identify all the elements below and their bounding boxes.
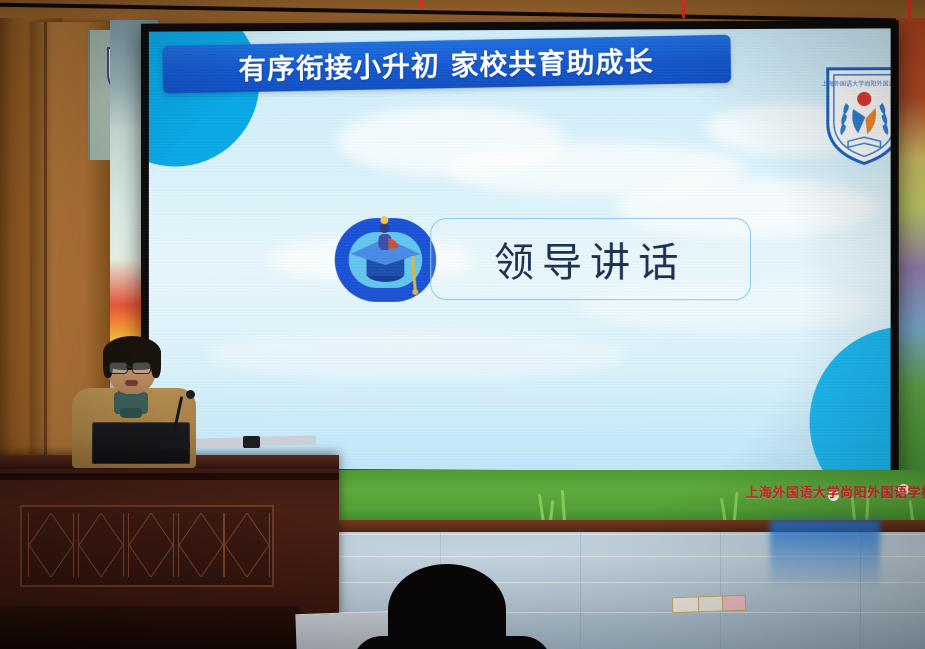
cap-icon-svg xyxy=(333,212,442,304)
section-label-text: 领导讲话 xyxy=(494,230,686,288)
section-label-box: 领导讲话 xyxy=(430,218,751,300)
backdrop-school-name: 上海外国语大学尚阳外国语学校 xyxy=(690,482,925,501)
school-emblem-icon: 上海外国语大学尚阳外国语学校 xyxy=(820,61,891,170)
photo-scene: 有序衔接小升初 家校共育助成长 上海外国语大学尚阳外国语学校 xyxy=(0,0,925,649)
led-screen: 有序衔接小升初 家校共育助成长 上海外国语大学尚阳外国语学校 xyxy=(141,20,899,479)
floor-papers xyxy=(672,595,744,612)
audience-member-foreground xyxy=(388,564,506,649)
speaker-glasses-right xyxy=(132,362,151,374)
slide-title-text: 有序衔接小升初 家校共育助成长 xyxy=(238,40,654,88)
slide-title-banner: 有序衔接小升初 家校共育助成长 xyxy=(162,35,731,94)
foreground-shadow xyxy=(0,606,300,649)
cloud xyxy=(208,330,626,381)
podium-moulding xyxy=(0,473,339,480)
speaker-hair-side-right xyxy=(151,348,161,378)
slide-content-row: 领导讲话 xyxy=(333,208,753,308)
podium-microphone-base xyxy=(160,440,190,450)
speaker-glasses-bridge xyxy=(126,366,133,368)
podium-device xyxy=(243,436,260,448)
speaker-glasses-left xyxy=(109,362,128,374)
svg-text:上海外国语大学尚阳外国语学校: 上海外国语大学尚阳外国语学校 xyxy=(822,80,891,88)
slide-canvas: 有序衔接小升初 家校共育助成长 上海外国语大学尚阳外国语学校 xyxy=(149,28,891,471)
decor-circle-bottom-right xyxy=(810,326,891,471)
slide-school-emblem: 上海外国语大学尚阳外国语学校 xyxy=(820,61,891,170)
podium-decorative-panel xyxy=(20,505,274,587)
wall-mural-right xyxy=(896,18,925,518)
column-seam xyxy=(44,22,47,502)
podium-microphone-head xyxy=(186,390,195,399)
speaker-mouth xyxy=(125,380,138,386)
speaker-scarf xyxy=(120,408,142,418)
floor-light-reflection xyxy=(770,520,880,590)
graduation-cap-student-icon xyxy=(333,212,442,304)
